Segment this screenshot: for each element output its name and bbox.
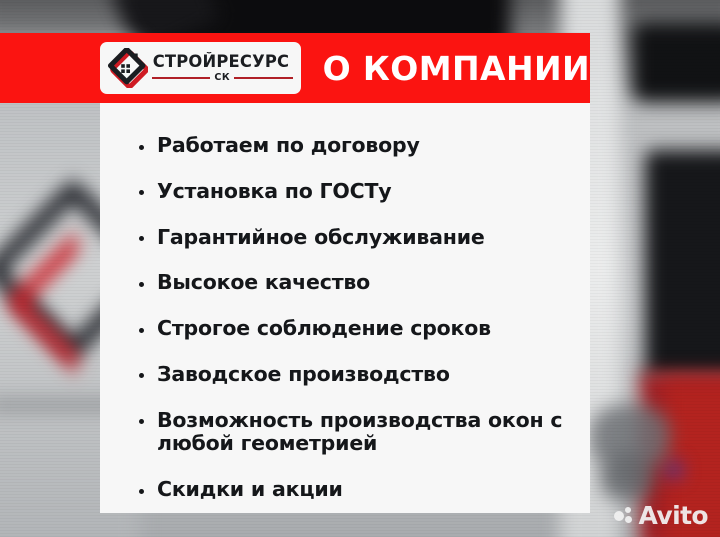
logo-rule-left: [152, 77, 210, 79]
company-logo-name: СТРОЙРЕСУРС: [153, 54, 292, 71]
bullet-icon: [139, 419, 144, 424]
header-banner: СТРОЙРЕСУРС СК О КОМПАНИИ: [0, 33, 590, 103]
company-logo: СТРОЙРЕСУРС СК: [100, 42, 301, 94]
list-item-label: Строгое соблюдение сроков: [157, 316, 491, 340]
list-item: Скидки и акции: [139, 478, 590, 502]
list-item-label: Заводское производство: [157, 362, 450, 386]
content-card: Работаем по договору Установка по ГОСТу …: [100, 103, 590, 513]
list-item: Возможность производства окон с любой ге…: [139, 409, 590, 457]
page-title: О КОМПАНИИ: [323, 52, 590, 85]
feature-list: Работаем по договору Установка по ГОСТу …: [100, 103, 590, 502]
bullet-icon: [139, 328, 144, 333]
list-item-label: Гарантийное обслуживание: [157, 225, 485, 249]
bullet-icon: [139, 489, 144, 494]
company-logo-subline: СК: [152, 73, 293, 83]
company-logo-text: СТРОЙРЕСУРС СК: [152, 54, 293, 83]
bullet-icon: [139, 282, 144, 287]
list-item: Работаем по договору: [139, 134, 590, 158]
avito-watermark: Avito: [614, 503, 708, 528]
bullet-icon: [139, 145, 144, 150]
company-logo-suffix: СК: [214, 73, 230, 83]
list-item: Гарантийное обслуживание: [139, 226, 590, 250]
house-diamond-icon: [108, 48, 148, 88]
list-item-label: Скидки и акции: [157, 477, 343, 501]
avito-watermark-label: Avito: [639, 503, 708, 528]
list-item: Установка по ГОСТу: [139, 180, 590, 204]
bullet-icon: [139, 236, 144, 241]
list-item: Заводское производство: [139, 363, 590, 387]
logo-rule-right: [234, 77, 292, 79]
list-item-label: Высокое качество: [157, 270, 370, 294]
avito-dots-icon: [614, 506, 634, 525]
list-item: Высокое качество: [139, 271, 590, 295]
bullet-icon: [139, 373, 144, 378]
list-item-label: Возможность производства окон с любой ге…: [157, 408, 562, 456]
list-item-label: Работаем по договору: [157, 133, 420, 157]
bullet-icon: [139, 190, 144, 195]
list-item-label: Установка по ГОСТу: [157, 179, 391, 203]
list-item: Строгое соблюдение сроков: [139, 317, 590, 341]
